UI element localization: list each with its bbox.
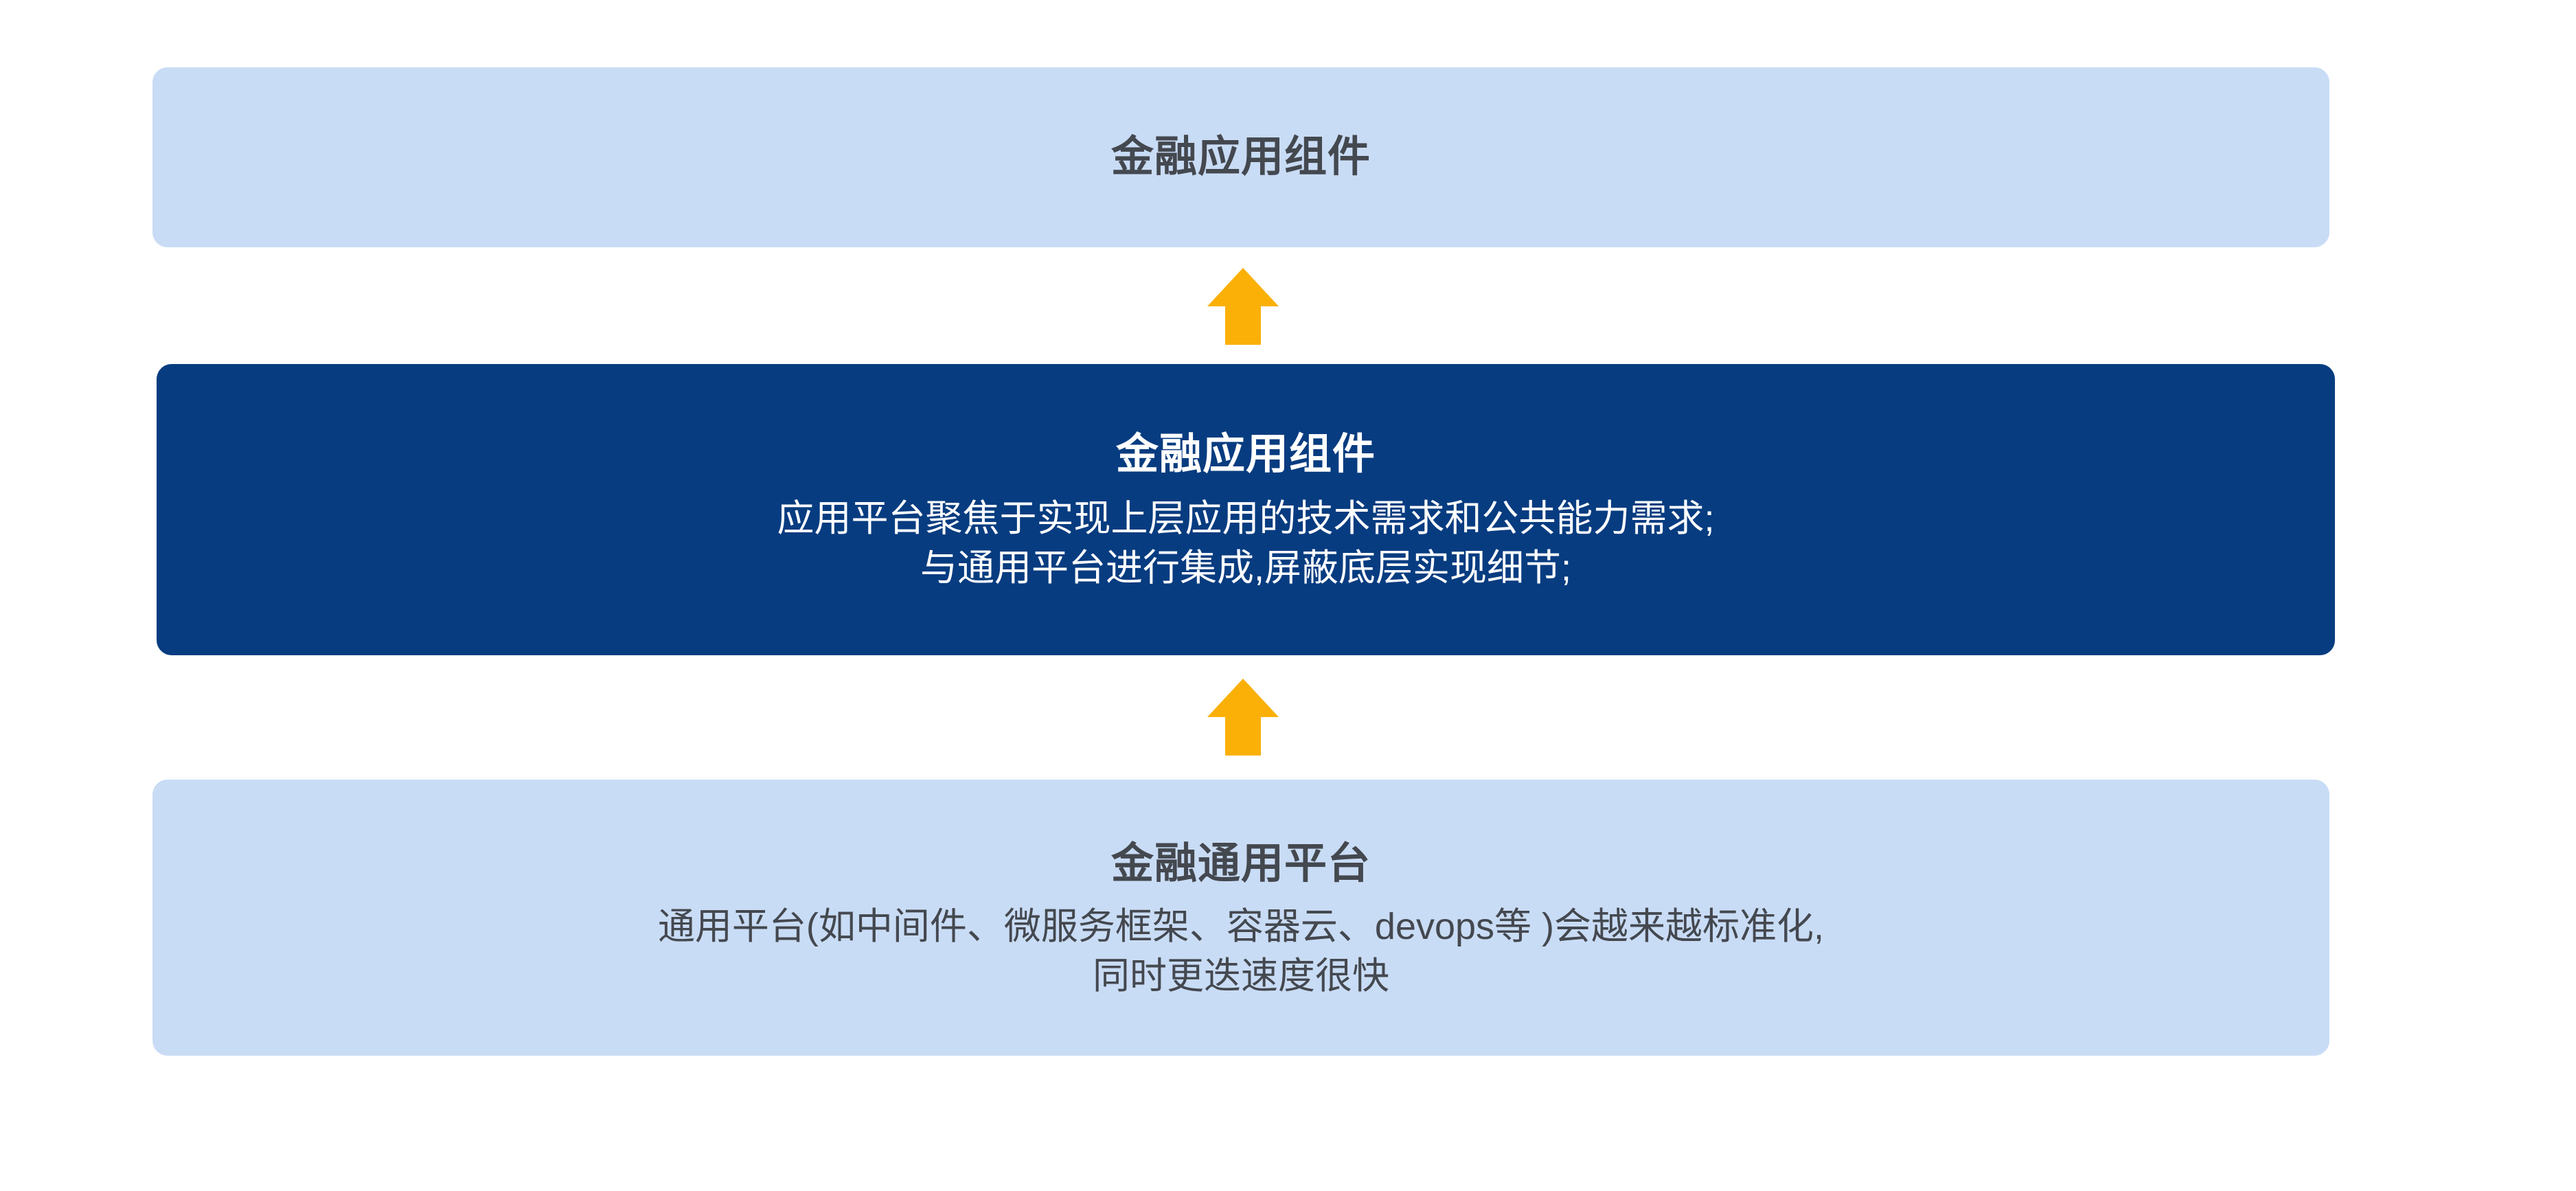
layer-box-application-platform[interactable]: 金融应用组件 应用平台聚焦于实现上层应用的技术需求和公共能力需求; 与通用平台进… [157,364,2335,655]
arrow-up-icon [1207,268,1279,345]
layer-box-general-platform[interactable]: 金融通用平台 通用平台(如中间件、微服务框架、容器云、devops等 )会越来越… [152,780,2329,1056]
layer-title-application-platform: 金融应用组件 [1116,429,1376,479]
layer-title-application-components: 金融应用组件 [1111,132,1371,182]
layer-box-application-components[interactable]: 金融应用组件 [152,67,2329,247]
layer-body-line: 应用平台聚焦于实现上层应用的技术需求和公共能力需求; [777,495,1714,543]
arrow-up-icon [1207,679,1279,756]
architecture-diagram: 金融应用组件 金融应用组件 应用平台聚焦于实现上层应用的技术需求和公共能力需求;… [0,0,2576,1191]
layer-title-general-platform: 金融通用平台 [1111,839,1371,889]
layer-body-line: 与通用平台进行集成,屏蔽底层实现细节; [777,544,1714,593]
layer-body-line: 同时更迭速度很快 [658,952,1824,1001]
layer-body-application-platform: 应用平台聚焦于实现上层应用的技术需求和公共能力需求; 与通用平台进行集成,屏蔽底… [777,495,1714,593]
layer-body-line: 通用平台(如中间件、微服务框架、容器云、devops等 )会越来越标准化, [658,903,1824,951]
layer-body-general-platform: 通用平台(如中间件、微服务框架、容器云、devops等 )会越来越标准化, 同时… [658,903,1824,1001]
